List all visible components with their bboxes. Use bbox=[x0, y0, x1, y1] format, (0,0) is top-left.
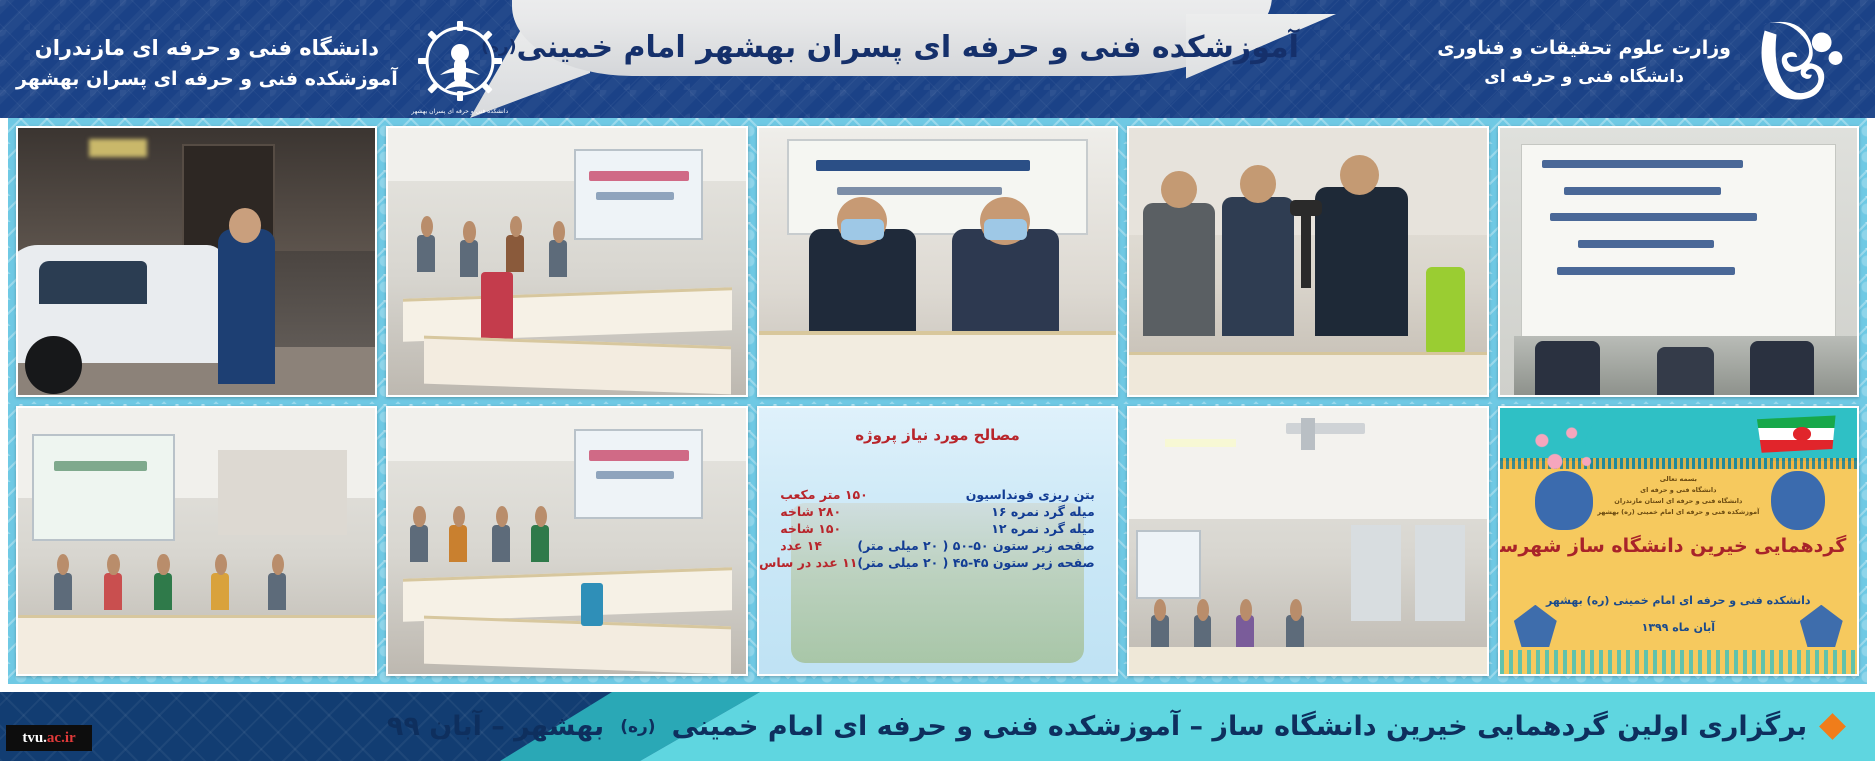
poster-header-line-0: بسمه تعالی bbox=[1660, 475, 1697, 483]
table-row: صفحه زیر ستون ۴۵-۴۵ ( ۲۰ میلی متر) ۱۱ عد… bbox=[780, 555, 1095, 570]
left-org-text: دانشگاه فنی و حرفه ای مازندران آموزشکده … bbox=[16, 32, 398, 94]
footer-caption-text: برگزاری اولین گردهمایی خیرین دانشگاه ساز… bbox=[672, 711, 1808, 742]
photo-cell[interactable]: مصالح مورد نیاز پروژه بتن ریزی فونداسیون… bbox=[757, 406, 1118, 677]
poster-medallion-left-icon bbox=[1514, 605, 1557, 648]
photo-2-scene bbox=[388, 128, 745, 395]
poster-subtitle-2: آبان ماه ۱۳۹۹ bbox=[1514, 621, 1843, 634]
material-label: بتن ریزی فونداسیون bbox=[966, 487, 1095, 502]
photo-cell[interactable]: بسمه تعالی دانشگاه فنی و حرفه ای دانشگاه… bbox=[1498, 406, 1859, 677]
table-row: میله گرد نمره ۱۶ ۲۸۰ شاخه bbox=[780, 504, 1095, 519]
material-label: میله گرد نمره ۱۲ bbox=[991, 521, 1095, 536]
photo-collage: بسمه تعالی دانشگاه فنی و حرفه ای دانشگاه… bbox=[8, 118, 1867, 684]
photo-cell[interactable] bbox=[16, 406, 377, 677]
photo-cell[interactable] bbox=[16, 126, 377, 397]
materials-table: بتن ریزی فونداسیون ۱۵۰ متر مکعب میله گرد… bbox=[780, 487, 1095, 666]
materials-info-slide: مصالح مورد نیاز پروژه بتن ریزی فونداسیون… bbox=[759, 408, 1116, 675]
left-org-block: دانشگاه فنی و حرفه ای مازندران آموزشکده … bbox=[16, 22, 486, 104]
material-label: صفحه زیر ستون ۵۰-۵۰ ( ۲۰ میلی متر) bbox=[857, 538, 1094, 553]
right-org-line2: دانشگاه فنی و حرفه ای bbox=[1437, 64, 1731, 90]
right-org-text: وزارت علوم تحقیقات و فناوری دانشگاه فنی … bbox=[1437, 34, 1731, 90]
material-value: ۱۵۰ شاخه bbox=[780, 521, 841, 536]
materials-title: مصالح مورد نیاز پروژه bbox=[759, 426, 1116, 444]
poster-header-line-1: دانشگاه فنی و حرفه ای bbox=[1640, 486, 1716, 494]
page-footer: برگزاری اولین گردهمایی خیرین دانشگاه ساز… bbox=[0, 692, 1875, 761]
poster-footer-ornament bbox=[1500, 650, 1857, 674]
table-row: بتن ریزی فونداسیون ۱۵۰ متر مکعب bbox=[780, 487, 1095, 502]
poster-header-line-2: دانشگاه فنی و حرفه ای استان مازندران bbox=[1614, 497, 1742, 505]
tvu-badge-left: tvu. bbox=[22, 730, 47, 747]
page-title-text: آموزشکده فنی و حرفه ای پسران بهشهر امام … bbox=[517, 30, 1299, 65]
emblem-caption: دانشکده فنی و حرفه ای پسران بهشهر bbox=[408, 108, 512, 115]
poster-header-lines: بسمه تعالی دانشگاه فنی و حرفه ای دانشگاه… bbox=[1600, 471, 1757, 519]
diamond-bullet-icon bbox=[1819, 713, 1846, 740]
photo-6-scene bbox=[18, 408, 375, 675]
flag-emblem-icon bbox=[1793, 427, 1811, 440]
material-label: صفحه زیر ستون ۴۵-۴۵ ( ۲۰ میلی متر) bbox=[857, 555, 1094, 570]
photo-5-scene bbox=[1500, 128, 1857, 395]
poster-subtitle-1: دانشکده فنی و حرفه ای امام خمینی (ره) به… bbox=[1514, 594, 1843, 607]
left-org-line1: دانشگاه فنی و حرفه ای مازندران bbox=[16, 32, 398, 65]
footer-caption: برگزاری اولین گردهمایی خیرین دانشگاه ساز… bbox=[380, 692, 1849, 761]
photo-9-scene bbox=[1129, 408, 1486, 675]
photo-cell[interactable] bbox=[1498, 126, 1859, 397]
page-header: آموزشکده فنی و حرفه ای پسران بهشهر امام … bbox=[0, 0, 1875, 118]
photo-cell[interactable] bbox=[386, 126, 747, 397]
photo-cell[interactable] bbox=[1127, 406, 1488, 677]
table-row: میله گرد نمره ۱۲ ۱۵۰ شاخه bbox=[780, 521, 1095, 536]
tvu-website-badge[interactable]: tvu.ac.ir bbox=[6, 725, 92, 751]
photo-3-scene bbox=[759, 128, 1116, 395]
footer-caption-tail: بهشهر – آبان ۹۹ bbox=[387, 711, 604, 742]
poster-header-line-3: آموزشکده فنی و حرفه ای امام خمینی (ره) ب… bbox=[1597, 508, 1759, 516]
poster-crest-right-icon bbox=[1771, 471, 1825, 530]
material-value: ۱۴ عدد bbox=[780, 538, 822, 553]
faculty-gear-emblem-icon: دانشکده فنی و حرفه ای پسران بهشهر bbox=[408, 13, 512, 113]
material-value: ۱۱ عدد در ساس کامل bbox=[757, 555, 858, 570]
photo-4-scene bbox=[1129, 128, 1486, 395]
table-row: صفحه زیر ستون ۵۰-۵۰ ( ۲۰ میلی متر) ۱۴ عد… bbox=[780, 538, 1095, 553]
footer-caption-honorific: (ره) bbox=[620, 717, 655, 737]
photo-cell[interactable] bbox=[386, 406, 747, 677]
left-org-line2: آموزشکده فنی و حرفه ای پسران بهشهر bbox=[16, 65, 398, 94]
right-org-line1: وزارت علوم تحقیقات و فناوری bbox=[1437, 34, 1731, 63]
event-poster: بسمه تعالی دانشگاه فنی و حرفه ای دانشگاه… bbox=[1500, 408, 1857, 675]
tvu-badge-right: ac.ir bbox=[47, 730, 76, 747]
tvu-logo-icon bbox=[1745, 11, 1863, 113]
material-label: میله گرد نمره ۱۶ bbox=[991, 504, 1095, 519]
photo-grid: بسمه تعالی دانشگاه فنی و حرفه ای دانشگاه… bbox=[16, 126, 1859, 676]
poster-main-title: گردهمایی خیرین دانشگاه ساز شهرستان بهشهر bbox=[1510, 535, 1846, 557]
poster-crest-left-icon bbox=[1535, 471, 1592, 530]
material-value: ۱۵۰ متر مکعب bbox=[780, 487, 868, 502]
right-org-block: وزارت علوم تحقیقات و فناوری دانشگاه فنی … bbox=[1323, 12, 1863, 112]
collage-body: بسمه تعالی دانشگاه فنی و حرفه ای دانشگاه… bbox=[0, 118, 1875, 692]
photo-1-scene bbox=[18, 128, 375, 395]
photo-7-scene bbox=[388, 408, 745, 675]
material-value: ۲۸۰ شاخه bbox=[780, 504, 841, 519]
photo-cell[interactable] bbox=[757, 126, 1118, 397]
page-title: آموزشکده فنی و حرفه ای پسران بهشهر امام … bbox=[520, 16, 1260, 78]
poster-medallion-right-icon bbox=[1800, 605, 1843, 648]
photo-cell[interactable] bbox=[1127, 126, 1488, 397]
